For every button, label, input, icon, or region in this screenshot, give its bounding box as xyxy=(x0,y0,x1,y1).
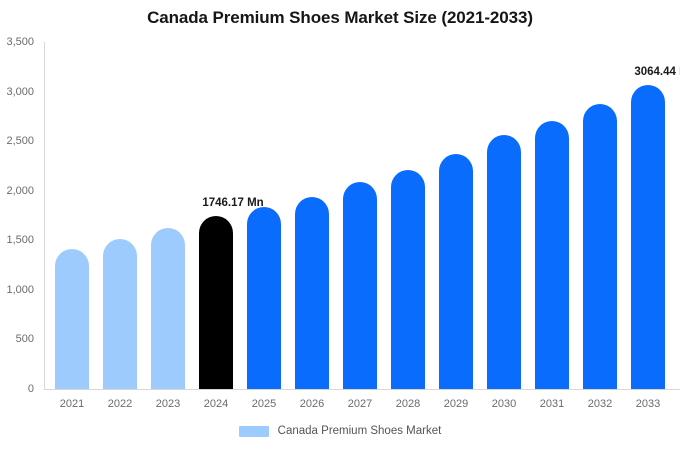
x-axis-tick-2028: 2028 xyxy=(384,398,432,410)
bar-2033[interactable] xyxy=(631,85,665,389)
bar-slot xyxy=(528,42,576,389)
x-axis-tick-2025: 2025 xyxy=(240,398,288,410)
bar-group: 1746.17 Mn3064.44 Mn xyxy=(44,42,680,389)
bar-value-label-2033: 3064.44 Mn xyxy=(595,66,680,78)
chart-container: Canada Premium Shoes Market Size (2021-2… xyxy=(0,0,680,450)
bar-slot xyxy=(288,42,336,389)
x-axis-tick-2030: 2030 xyxy=(480,398,528,410)
x-axis-tick-2033: 2033 xyxy=(624,398,672,410)
bar-slot xyxy=(480,42,528,389)
bar-slot xyxy=(576,42,624,389)
x-axis-tick-labels: 2021202220232024202520262027202820292030… xyxy=(44,398,680,416)
x-axis-tick-2023: 2023 xyxy=(144,398,192,410)
plot-area: 3,5003,0002,5002,0001,5001,0005000 1746.… xyxy=(44,42,680,390)
y-axis-tick: 500 xyxy=(0,333,34,345)
x-axis-tick-2029: 2029 xyxy=(432,398,480,410)
bar-2032[interactable] xyxy=(583,104,617,389)
bar-2022[interactable] xyxy=(103,239,137,389)
x-axis-tick-2031: 2031 xyxy=(528,398,576,410)
x-axis-tick-2024: 2024 xyxy=(192,398,240,410)
x-axis-tick-2026: 2026 xyxy=(288,398,336,410)
bar-2023[interactable] xyxy=(151,228,185,389)
y-axis-tick: 0 xyxy=(0,383,34,395)
bar-slot xyxy=(48,42,96,389)
bar-2027[interactable] xyxy=(343,182,377,389)
bar-slot xyxy=(144,42,192,389)
x-axis-tick-2022: 2022 xyxy=(96,398,144,410)
chart-title: Canada Premium Shoes Market Size (2021-2… xyxy=(0,8,680,28)
bar-slot xyxy=(240,42,288,389)
bar-2025[interactable] xyxy=(247,207,281,389)
legend-label: Canada Premium Shoes Market xyxy=(278,425,442,437)
y-axis-tick: 2,500 xyxy=(0,135,34,147)
bar-2024[interactable] xyxy=(199,216,233,389)
bar-slot: 3064.44 Mn xyxy=(624,42,672,389)
bar-slot xyxy=(432,42,480,389)
x-axis-tick-2027: 2027 xyxy=(336,398,384,410)
legend-swatch-icon xyxy=(239,426,269,437)
bar-2026[interactable] xyxy=(295,197,329,389)
bar-2028[interactable] xyxy=(391,170,425,389)
bar-slot xyxy=(96,42,144,389)
x-axis-tick-2021: 2021 xyxy=(48,398,96,410)
bar-slot xyxy=(336,42,384,389)
x-axis-line xyxy=(44,389,680,390)
y-axis-tick: 2,000 xyxy=(0,185,34,197)
y-axis-tick: 3,000 xyxy=(0,86,34,98)
chart-legend: Canada Premium Shoes Market xyxy=(0,425,680,437)
bar-2029[interactable] xyxy=(439,154,473,389)
bar-2021[interactable] xyxy=(55,249,89,389)
y-axis-tick: 3,500 xyxy=(0,36,34,48)
bar-2031[interactable] xyxy=(535,121,569,389)
bar-slot: 1746.17 Mn xyxy=(192,42,240,389)
x-axis-tick-2032: 2032 xyxy=(576,398,624,410)
y-axis-tick: 1,000 xyxy=(0,284,34,296)
y-axis-tick: 1,500 xyxy=(0,234,34,246)
bar-2030[interactable] xyxy=(487,135,521,389)
bar-slot xyxy=(384,42,432,389)
